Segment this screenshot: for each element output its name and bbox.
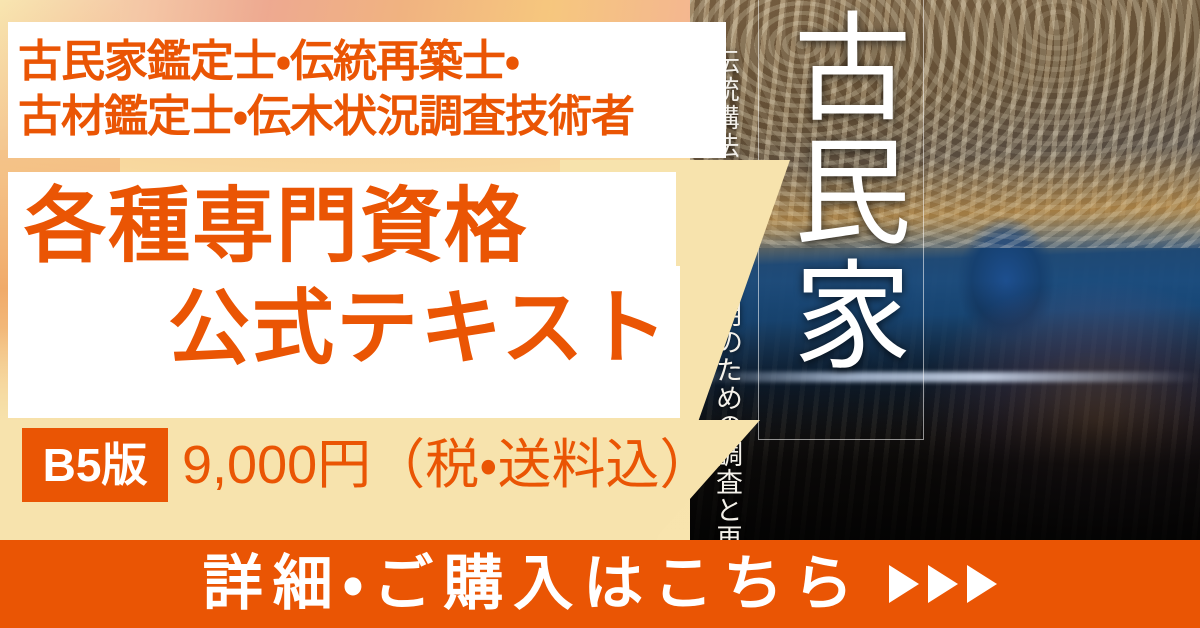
triangle-right-icon-2 (928, 565, 958, 603)
headline-line-1: 各種専門資格 (24, 186, 528, 268)
triangle-right-icon-3 (967, 565, 997, 603)
price-text: 9,000円（税・送料込） (182, 436, 714, 494)
triangle-right-icon-1 (889, 565, 919, 603)
qualifications-line-2: 古材鑑定士・伝木状況調査技術者 (18, 89, 724, 144)
format-badge: B5版 (22, 428, 168, 502)
qualifications-line-1: 古民家鑑定士・伝統再築士・ (18, 34, 724, 89)
cta-arrows (889, 565, 997, 603)
book-cover-title: 古民家 (775, 6, 907, 378)
cta-label: 詳細・ご購入はこちら (203, 554, 863, 614)
qualifications-text: 古民家鑑定士・伝統再築士・ 古材鑑定士・伝木状況調査技術者 (18, 34, 724, 145)
headline-line-2: 公式テキスト (168, 288, 670, 370)
promo-banner: 古民家 伝統構法 古民家活用のための調査と再生の 古民家鑑定士・伝統再築士・ 古… (0, 0, 1200, 628)
cta-button[interactable]: 詳細・ご購入はこちら (0, 540, 1200, 628)
